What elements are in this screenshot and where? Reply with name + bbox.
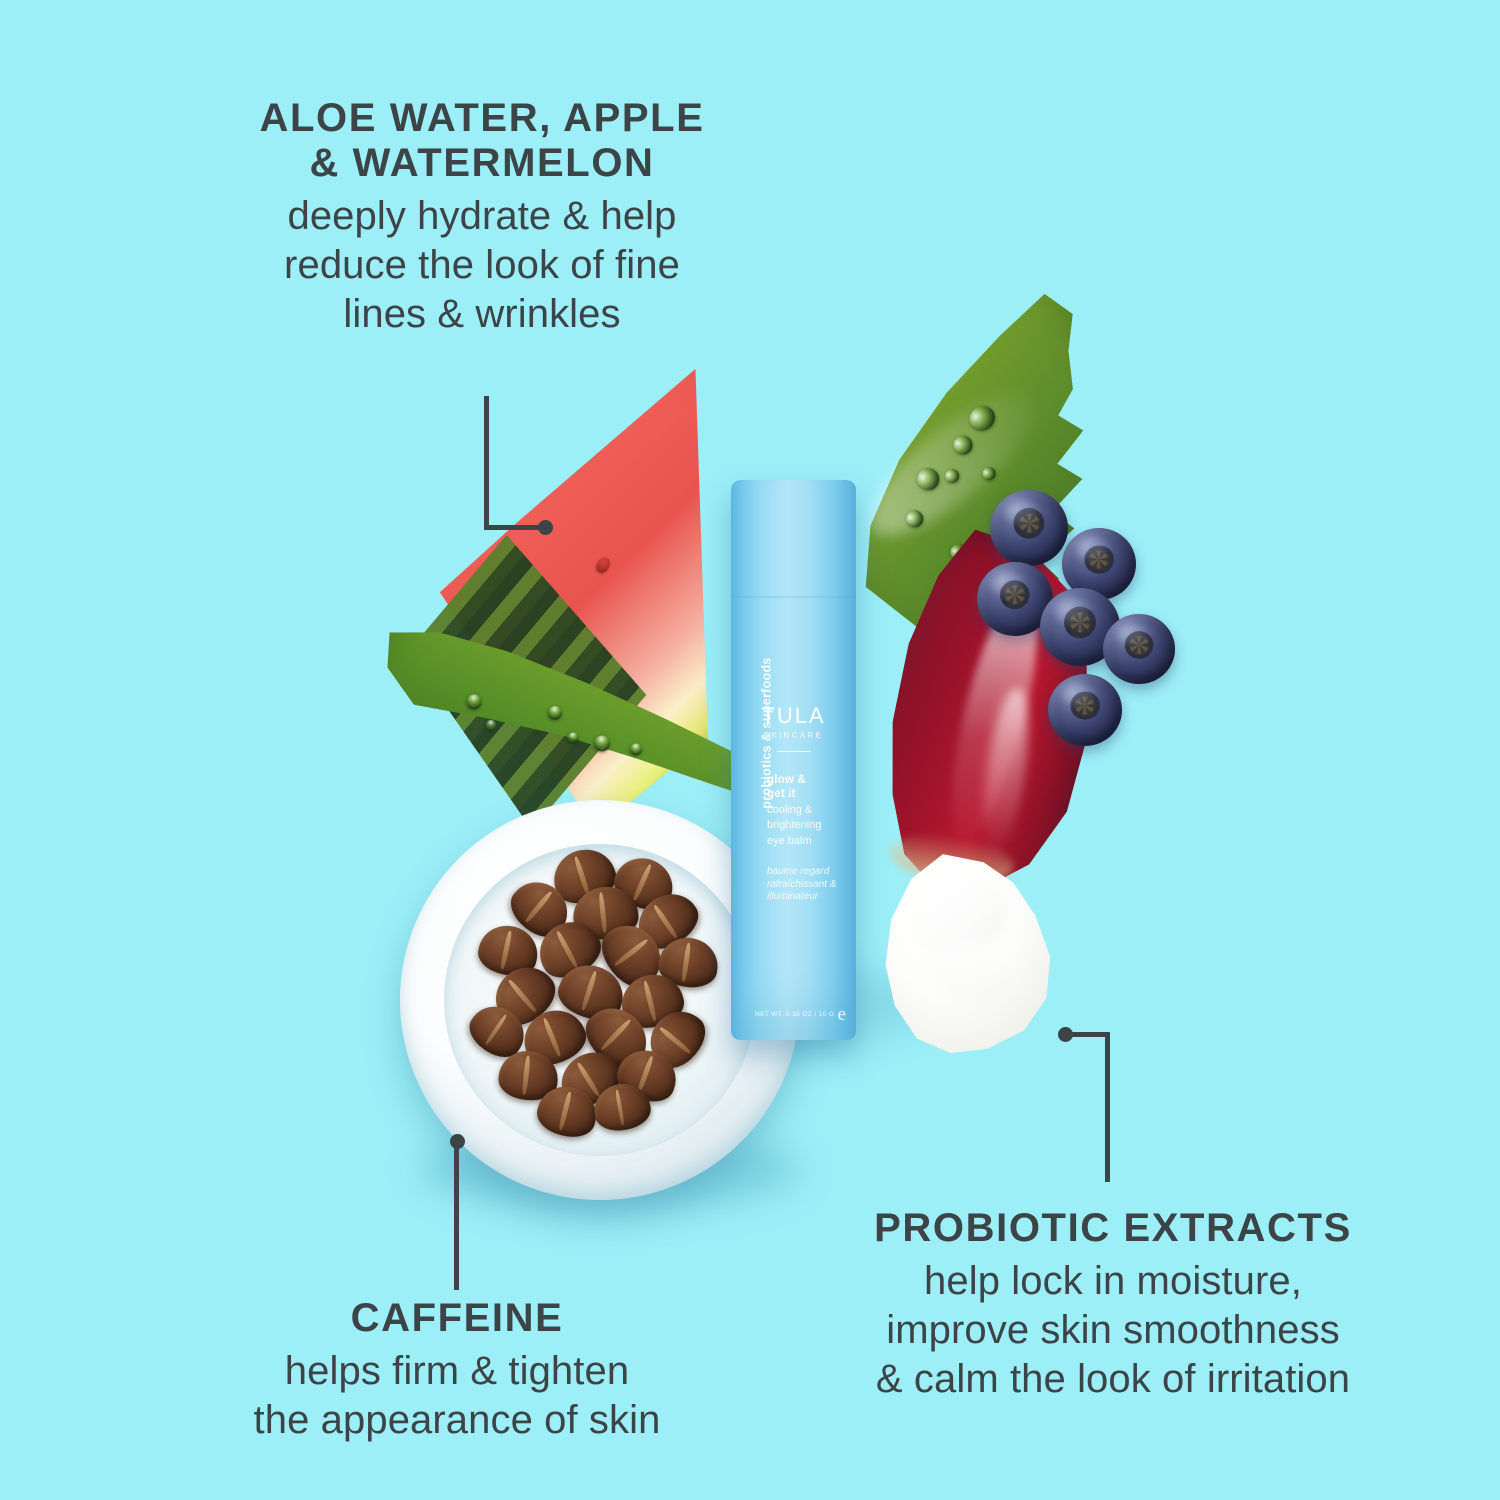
brand-divider <box>777 751 811 752</box>
leader-line-aloe <box>484 396 564 541</box>
callout-body-line-2: improve skin smoothness <box>886 1308 1340 1352</box>
leader-segment-vertical <box>1105 1032 1110 1182</box>
product-name-line-1: glow & <box>767 773 845 787</box>
product-tube[interactable]: probiotics & superfoods TULA SKINCARE gl… <box>731 480 856 1040</box>
blueberry <box>1048 674 1122 746</box>
callout-body-line-2: reduce the look of fine <box>284 243 680 287</box>
leader-segment-vertical <box>484 396 489 530</box>
infographic-canvas: probiotics & superfoods TULA SKINCARE gl… <box>0 0 1500 1500</box>
callout-title: CAFFEINE <box>202 1296 712 1341</box>
blueberry-bloom <box>1006 501 1039 525</box>
callout-body-line-1: help lock in moisture, <box>924 1259 1302 1303</box>
product-french-line-3: illuminateur <box>767 891 845 904</box>
blueberry-bloom <box>992 572 1024 596</box>
coffee-beans-cluster <box>452 844 748 1148</box>
blueberry-bloom <box>1117 624 1147 646</box>
product-french-line-1: baume regard <box>767 866 845 879</box>
ingredients-product-photo: probiotics & superfoods TULA SKINCARE gl… <box>340 330 1170 1200</box>
callout-caffeine: CAFFEINE helps firm & tighten the appear… <box>202 1296 712 1445</box>
estimated-sign-icon: e <box>838 1005 846 1024</box>
blueberry-bloom <box>1063 684 1094 707</box>
brand-subtitle: SKINCARE <box>731 731 856 740</box>
callout-body-line-3: lines & wrinkles <box>343 292 620 336</box>
leader-line-probiotic <box>1058 1022 1118 1182</box>
product-desc-line-3: eye balm <box>767 835 845 849</box>
product-desc-line-1: cooling & <box>767 804 845 818</box>
product-name-line-2: get it <box>767 787 845 801</box>
callout-body-line-1: deeply hydrate & help <box>287 194 676 238</box>
leader-endpoint-dot <box>538 520 553 535</box>
tube-brand-block: TULA SKINCARE <box>731 705 856 752</box>
callout-title-line-1: ALOE WATER, APPLE <box>260 96 705 140</box>
product-desc-line-2: brightening <box>767 819 845 833</box>
net-weight: NET WT. 0.35 OZ / 10 G <box>755 1011 834 1018</box>
callout-body: helps firm & tighten the appearance of s… <box>202 1347 712 1445</box>
leader-segment-vertical <box>454 1142 459 1290</box>
callout-body: help lock in moisture, improve skin smoo… <box>818 1257 1408 1403</box>
callout-body: deeply hydrate & help reduce the look of… <box>212 192 752 338</box>
leader-segment-horizontal <box>1066 1032 1110 1037</box>
callout-body-line-1: helps firm & tighten <box>285 1349 629 1393</box>
callout-title: ALOE WATER, APPLE & WATERMELON <box>212 96 752 186</box>
brand-name: TULA <box>731 705 856 727</box>
callout-aloe-water-apple-watermelon: ALOE WATER, APPLE & WATERMELON deeply hy… <box>212 96 752 339</box>
callout-body-line-3: & calm the look of irritation <box>876 1357 1350 1401</box>
cream-swatch <box>880 850 1065 1055</box>
callout-title-line-2: & WATERMELON <box>309 141 654 185</box>
tube-label: probiotics & superfoods TULA SKINCARE gl… <box>731 480 856 1040</box>
blueberry <box>990 490 1068 566</box>
callout-title: PROBIOTIC EXTRACTS <box>818 1206 1408 1251</box>
tube-product-text: glow & get it cooling & brightening eye … <box>767 773 845 904</box>
product-french-line-2: rafraîchissant & <box>767 879 845 892</box>
leader-segment-horizontal <box>484 525 542 530</box>
leader-line-caffeine <box>450 1134 470 1290</box>
blueberry <box>1103 614 1175 684</box>
callout-body-line-2: the appearance of skin <box>254 1398 661 1442</box>
blueberry-bloom <box>1056 599 1090 624</box>
blueberry-bloom <box>1077 538 1108 561</box>
callout-probiotic-extracts: PROBIOTIC EXTRACTS help lock in moisture… <box>818 1206 1408 1404</box>
